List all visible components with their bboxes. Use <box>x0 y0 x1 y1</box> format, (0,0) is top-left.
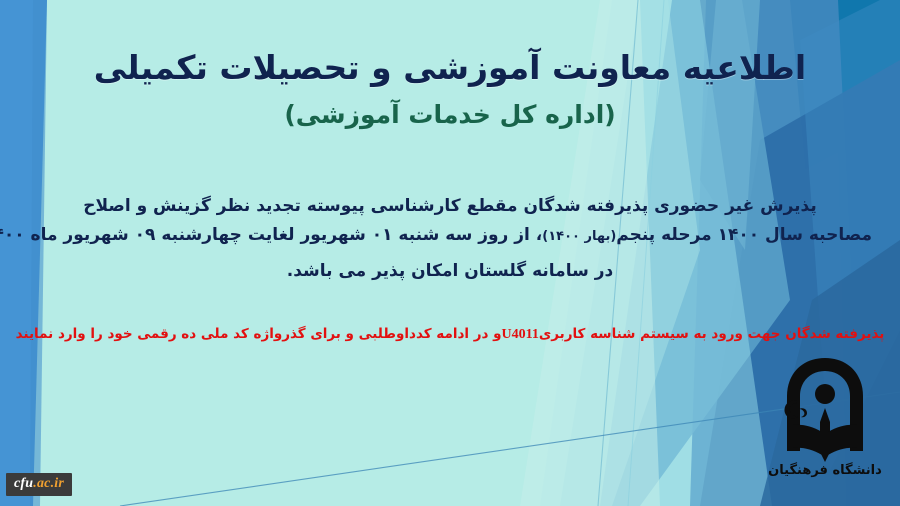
body-block: پذیرش غیر حضوری پذیرفته شدگان مقطع کارشن… <box>28 192 872 287</box>
title-block: اطلاعیه معاونت آموزشی و تحصیلات تکمیلی (… <box>0 46 900 131</box>
body-line-2: مصاحبه سال ۱۴۰۰ مرحله پنجم(بهار ۱۴۰۰)، ا… <box>28 221 872 250</box>
body-line-2-dates: ، از روز سه شنبه ۰۱ شهریور لغایت چهارشنب… <box>0 225 542 245</box>
logo-caption: دانشگاه فرهنگیان <box>768 462 882 478</box>
body-line-2-part-a: مصاحبه سال ۱۴۰۰ مرحله پنجم <box>616 225 872 245</box>
body-line-2-season: (بهار ۱۴۰۰) <box>542 229 616 244</box>
page-title: اطلاعیه معاونت آموزشی و تحصیلات تکمیلی <box>0 46 900 90</box>
farhangian-university-logo: دانشگاه فرهنگیان <box>766 352 884 480</box>
body-line-3: در سامانه گلستان امکان پذیر می باشد. <box>28 257 872 286</box>
slide-content: اطلاعیه معاونت آموزشی و تحصیلات تکمیلی (… <box>0 0 900 506</box>
username-value: U4011 <box>502 327 539 342</box>
body-line-1: پذیرش غیر حضوری پذیرفته شدگان مقطع کارشن… <box>28 192 872 221</box>
watermark-prefix: cfu <box>14 476 33 491</box>
red-notice-part-2: و در ادامه کدداوطلبی و برای گذرواژه کد م… <box>16 326 502 342</box>
red-notice: پذیرفته شدگان جهت ورود به سیستم شناسه کا… <box>0 325 900 345</box>
announcement-slide: اطلاعیه معاونت آموزشی و تحصیلات تکمیلی (… <box>0 0 900 506</box>
site-watermark: cfu.ac.ir <box>6 473 72 496</box>
red-notice-part-1: پذیرفته شدگان جهت ورود به سیستم شناسه کا… <box>539 326 884 342</box>
page-subtitle: (اداره کل خدمات آموزشی) <box>0 99 900 132</box>
watermark-suffix: .ac.ir <box>33 476 64 491</box>
